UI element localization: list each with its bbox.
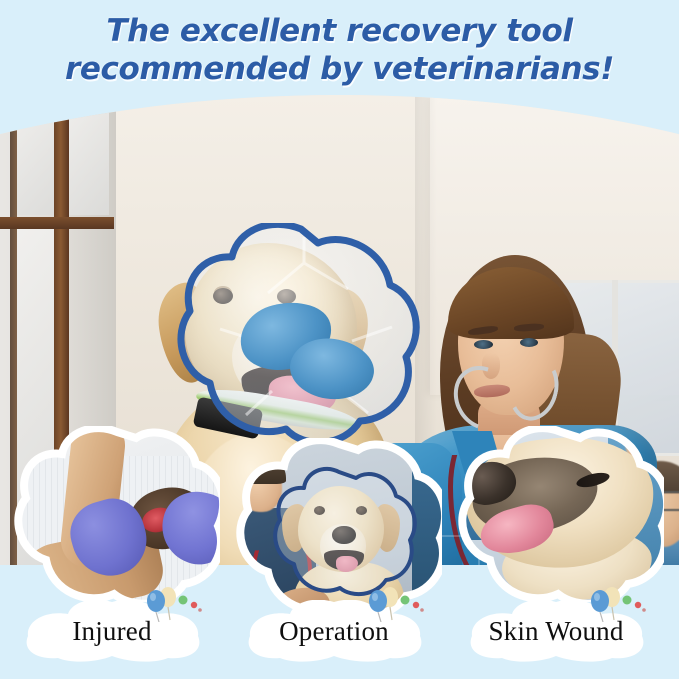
feature-cloud-row xyxy=(0,418,679,618)
headline-line-2: recommended by veterinarians! xyxy=(0,50,679,88)
feature-card-injured[interactable] xyxy=(14,426,220,602)
label-pill-skin-wound[interactable]: Skin Wound xyxy=(458,600,654,662)
label-pill-operation[interactable]: Operation xyxy=(236,600,432,662)
feature-label-text: Injured xyxy=(14,600,210,662)
glass-pane xyxy=(69,95,109,215)
vet-eye xyxy=(520,338,538,347)
cloud-mask-1 xyxy=(14,426,220,602)
window-mullion xyxy=(0,217,114,229)
feature-label-text: Skin Wound xyxy=(458,600,654,662)
product-poster: The excellent recovery tool recommended … xyxy=(0,0,679,679)
headline-line-1: The excellent recovery tool xyxy=(0,12,679,50)
vet-eye xyxy=(474,340,493,349)
cloud-mask-3 xyxy=(458,426,664,602)
glass-pane xyxy=(16,95,54,215)
feature-label-row: Injured Operation xyxy=(0,600,679,672)
headline: The excellent recovery tool recommended … xyxy=(0,12,679,88)
label-pill-injured[interactable]: Injured xyxy=(14,600,210,662)
feature-label-text: Operation xyxy=(236,600,432,662)
feature-card-skin-wound[interactable] xyxy=(458,426,664,602)
